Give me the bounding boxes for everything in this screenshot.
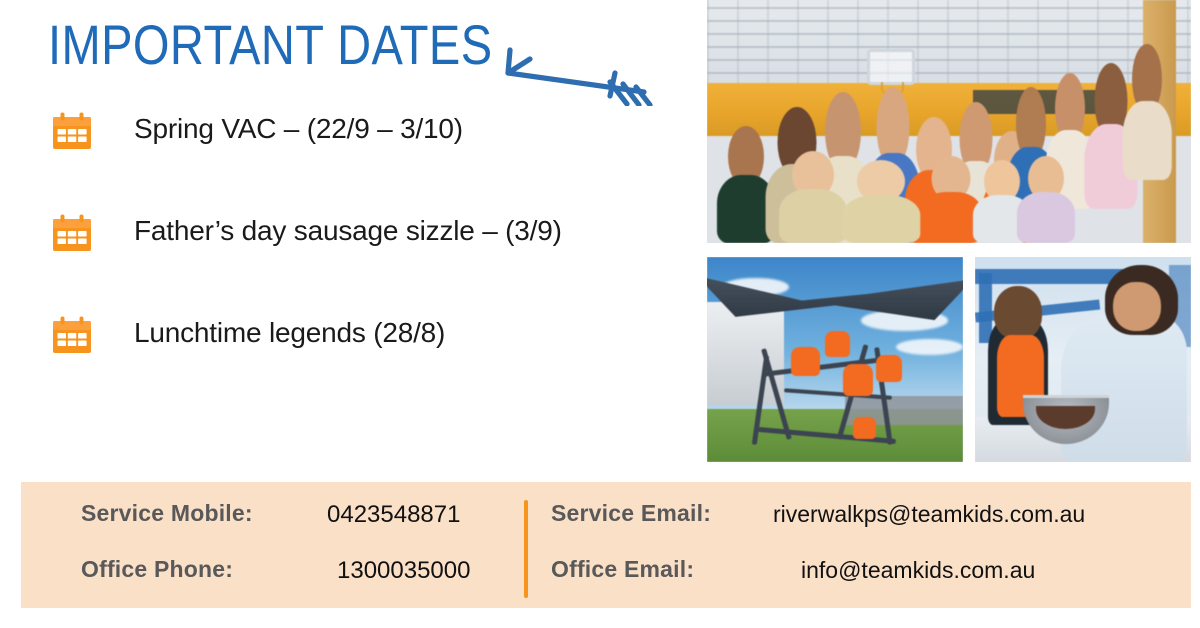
office-phone-label: Office Phone: xyxy=(81,556,233,583)
contact-row-service-mobile: Service Mobile: 0423548871 xyxy=(81,500,521,552)
hand-drawn-arrow-left-icon xyxy=(492,26,662,106)
list-item: Spring VAC – (22/9 – 3/10) xyxy=(0,100,700,202)
calendar-icon xyxy=(51,111,93,153)
important-dates-panel: IMPORTANT DATES xyxy=(0,0,700,482)
office-email-value[interactable]: info@teamkids.com.au xyxy=(801,557,1035,584)
group-photo-gym xyxy=(707,0,1191,243)
cooking-photo xyxy=(975,257,1191,462)
service-mobile-label: Service Mobile: xyxy=(81,500,253,527)
contact-column-left: Service Mobile: 0423548871 Office Phone:… xyxy=(81,482,521,608)
service-email-value[interactable]: riverwalkps@teamkids.com.au xyxy=(773,501,1085,528)
service-mobile-value: 0423548871 xyxy=(327,501,460,529)
office-email-label: Office Email: xyxy=(551,556,694,583)
calendar-icon xyxy=(51,213,93,255)
contact-row-service-email: Service Email: riverwalkps@teamkids.com.… xyxy=(551,500,1181,552)
date-item-label: Lunchtime legends (28/8) xyxy=(134,313,445,353)
date-item-label: Father’s day sausage sizzle – (3/9) xyxy=(134,211,562,251)
list-item: Father’s day sausage sizzle – (3/9) xyxy=(0,202,700,304)
contact-footer: Service Mobile: 0423548871 Office Phone:… xyxy=(21,482,1191,608)
contact-row-office-phone: Office Phone: 1300035000 xyxy=(81,556,521,608)
date-item-label: Spring VAC – (22/9 – 3/10) xyxy=(134,109,463,149)
office-phone-value: 1300035000 xyxy=(337,557,470,585)
contact-column-right: Service Email: riverwalkps@teamkids.com.… xyxy=(551,482,1181,608)
service-email-label: Service Email: xyxy=(551,500,711,527)
contact-row-office-email: Office Email: info@teamkids.com.au xyxy=(551,556,1181,608)
photo-collage xyxy=(707,0,1191,462)
important-dates-list: Spring VAC – (22/9 – 3/10) xyxy=(0,100,700,406)
climbing-frame-photo xyxy=(707,257,963,462)
calendar-icon xyxy=(51,315,93,357)
page-title: IMPORTANT DATES xyxy=(48,14,493,76)
footer-divider xyxy=(524,500,528,598)
list-item: Lunchtime legends (28/8) xyxy=(0,304,700,406)
